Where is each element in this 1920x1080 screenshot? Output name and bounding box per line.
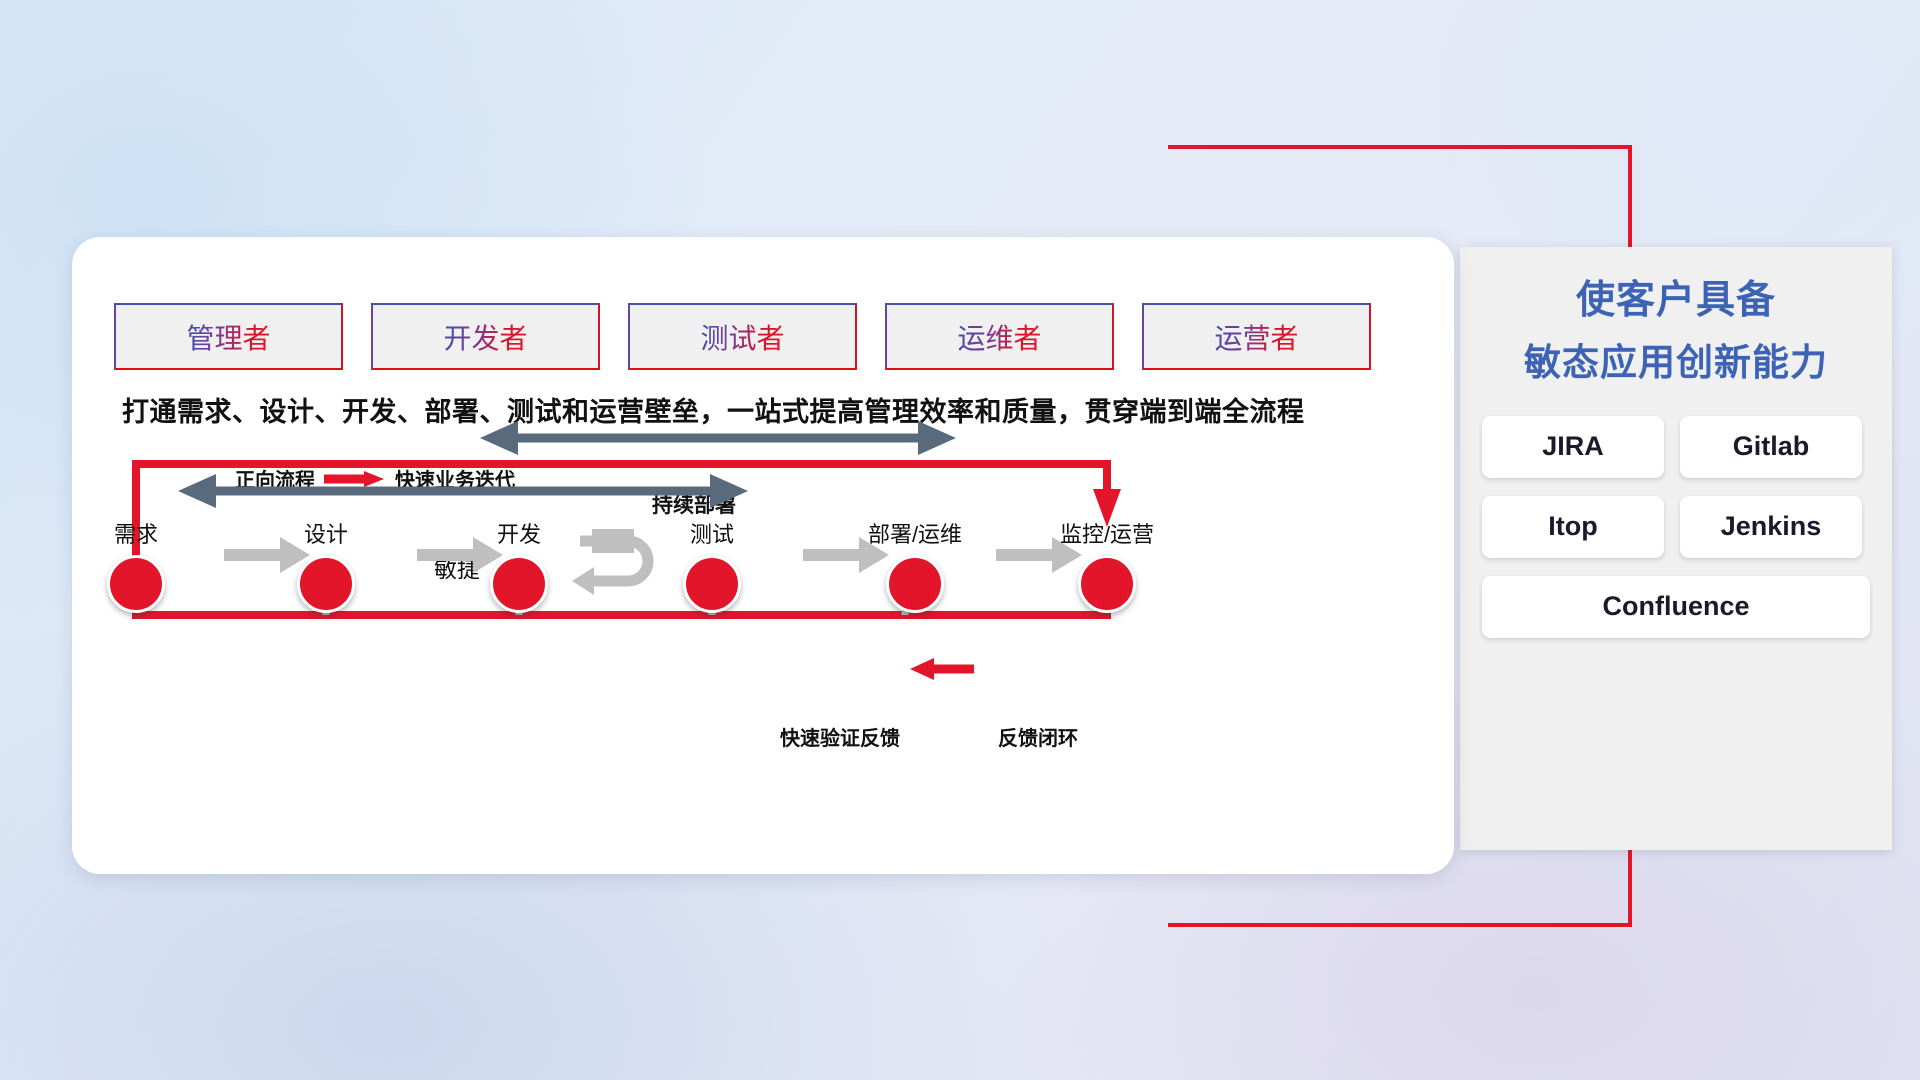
role-box-manager[interactable]: 管理者 [114, 303, 343, 370]
pipeline-node-requirement-dot [107, 555, 165, 613]
pipeline-node-monitor-operations[interactable]: 监控/运营 [1037, 517, 1177, 613]
role-box-tester[interactable]: 测试者 [628, 303, 857, 370]
main-card: 管理者 开发者 测试者 运维者 运营者 打通需求、设计、开发、部署、测试和运营壁… [72, 237, 1454, 874]
pipeline-node-testing-label: 测试 [652, 517, 772, 549]
role-label-manager: 管理者 [186, 317, 270, 357]
tool-chip-jenkins[interactable]: Jenkins [1680, 496, 1862, 558]
node-riser-connectors [316, 559, 905, 615]
role-label-operations: 运营者 [1214, 317, 1298, 357]
tool-chip-list: JIRA Gitlab Itop Jenkins Confluence [1460, 416, 1892, 638]
pipeline-node-requirement[interactable]: 需求 [76, 517, 196, 613]
pipeline-node-development-dot [490, 555, 548, 613]
pipeline-node-testing-dot [683, 555, 741, 613]
tool-chip-confluence[interactable]: Confluence [1482, 576, 1870, 638]
annotation-forward-process-right: 快速业务迭代 [395, 464, 515, 493]
role-box-developer[interactable]: 开发者 [371, 303, 600, 370]
forward-red-arrow-icon [324, 469, 386, 489]
pipeline-node-deploy-ops-dot [886, 555, 944, 613]
pipeline-node-design-dot [297, 555, 355, 613]
annotation-feedback-loop: 快速验证反馈 反馈闭环 [780, 722, 1078, 751]
tool-chip-itop[interactable]: Itop [1482, 496, 1664, 558]
role-label-ops: 运维者 [957, 317, 1041, 357]
role-label-tester: 测试者 [700, 317, 784, 357]
pipeline-node-development-label: 开发 [459, 517, 579, 549]
annotation-forward-process: 正向流程 快速业务迭代 [235, 464, 515, 493]
pipeline-node-development[interactable]: 开发 [459, 517, 579, 613]
pipeline-node-testing[interactable]: 测试 [652, 517, 772, 613]
annotation-continuous-deployment: 持续部署 [652, 489, 736, 519]
slide-canvas: 使客户具备 敏态应用创新能力 JIRA Gitlab Itop Jenkins … [0, 0, 1920, 1080]
annotation-forward-process-left: 正向流程 [235, 464, 315, 493]
pipeline-node-design-label: 设计 [266, 517, 386, 549]
pipeline-node-deploy-ops[interactable]: 部署/运维 [845, 517, 985, 613]
pipeline-node-monitor-operations-dot [1078, 555, 1136, 613]
role-box-operations[interactable]: 运营者 [1142, 303, 1371, 370]
headline-text: 打通需求、设计、开发、部署、测试和运营壁垒，一站式提高管理效率和质量，贯穿端到端… [122, 390, 1412, 429]
feedback-red-arrow-icon [910, 658, 974, 680]
tools-panel-title-line1: 使客户具备 [1460, 275, 1892, 328]
pipeline-node-monitor-operations-label: 监控/运营 [1037, 517, 1177, 549]
pipeline-node-design[interactable]: 设计 [266, 517, 386, 613]
tool-chip-jira[interactable]: JIRA [1482, 416, 1664, 478]
tool-chip-gitlab[interactable]: Gitlab [1680, 416, 1862, 478]
pipeline-node-deploy-ops-label: 部署/运维 [845, 517, 985, 549]
role-box-ops[interactable]: 运维者 [885, 303, 1114, 370]
annotation-feedback-left: 快速验证反馈 [780, 722, 900, 751]
annotation-feedback-right: 反馈闭环 [998, 722, 1078, 751]
pipeline-node-requirement-label: 需求 [76, 517, 196, 549]
tools-panel-title: 使客户具备 敏态应用创新能力 [1460, 275, 1892, 388]
role-box-row: 管理者 开发者 测试者 运维者 运营者 [114, 303, 1371, 370]
iteration-loop-icon [580, 541, 648, 581]
iteration-loop-arrowhead [572, 529, 634, 595]
tools-panel: 使客户具备 敏态应用创新能力 JIRA Gitlab Itop Jenkins … [1460, 247, 1892, 850]
role-label-developer: 开发者 [443, 317, 527, 357]
tools-panel-title-line2: 敏态应用创新能力 [1460, 338, 1892, 388]
